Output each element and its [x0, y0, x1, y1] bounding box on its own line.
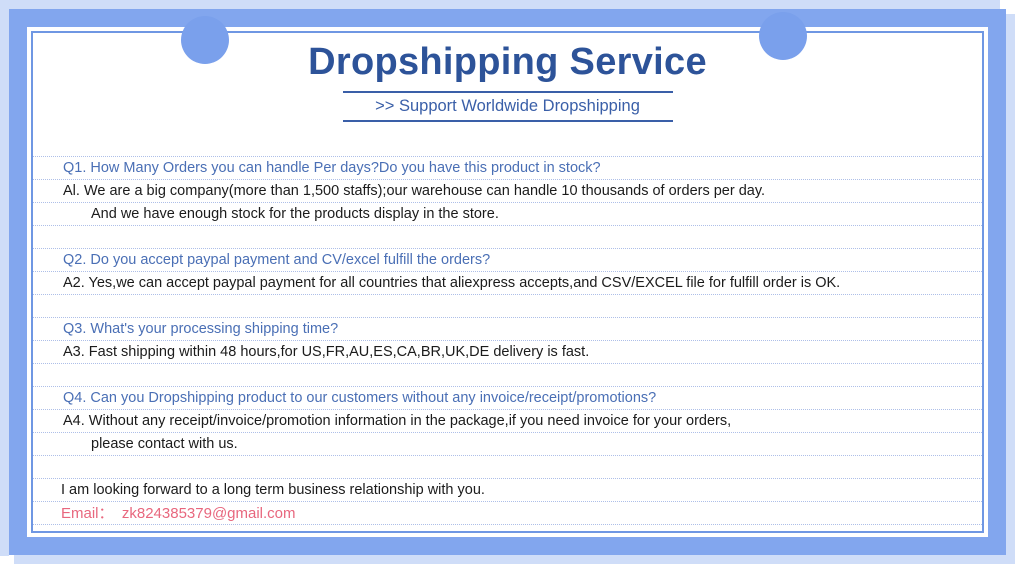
faq-answer: Al. We are a big company(more than 1,500… [33, 180, 982, 203]
subtitle-banner: >> Support Worldwide Dropshipping [343, 91, 673, 122]
closing-statement: I am looking forward to a long term busi… [33, 479, 982, 502]
spacer-line [33, 134, 982, 157]
faq-question: Q4. Can you Dropshipping product to our … [33, 387, 982, 410]
faq-question: Q1. How Many Orders you can handle Per d… [33, 157, 982, 180]
faq-answer: A2. Yes,we can accept paypal payment for… [33, 272, 982, 295]
faq-answer-continuation: please contact with us. [33, 433, 982, 456]
faq-question: Q2. Do you accept paypal payment and CV/… [33, 249, 982, 272]
email-address[interactable]: zk824385379@gmail.com [122, 505, 296, 522]
subtitle-text: >> Support Worldwide Dropshipping [343, 96, 673, 116]
spacer-line [33, 364, 982, 387]
dropshipping-service-banner: Dropshipping Service >> Support Worldwid… [0, 0, 1015, 564]
page-title: Dropshipping Service [33, 33, 982, 89]
contact-email-line: Email： zk824385379@gmail.com [33, 502, 982, 525]
spacer-line [33, 456, 982, 479]
content-area: Dropshipping Service >> Support Worldwid… [33, 33, 982, 531]
spacer-line [33, 295, 982, 318]
frame-tint-top [0, 0, 1000, 9]
faq-answer: A3. Fast shipping within 48 hours,for US… [33, 341, 982, 364]
spacer-line [33, 525, 982, 531]
faq-question: Q3. What's your processing shipping time… [33, 318, 982, 341]
faq-answer-continuation: And we have enough stock for the product… [33, 203, 982, 226]
frame-tint-right [1006, 14, 1015, 564]
email-label: Email： [61, 505, 114, 522]
frame-tint-left [0, 8, 9, 556]
frame-tint-bottom [14, 555, 1015, 564]
spacer-line [33, 226, 982, 249]
faq-list: Q1. How Many Orders you can handle Per d… [33, 134, 982, 531]
faq-answer: A4. Without any receipt/invoice/promotio… [33, 410, 982, 433]
